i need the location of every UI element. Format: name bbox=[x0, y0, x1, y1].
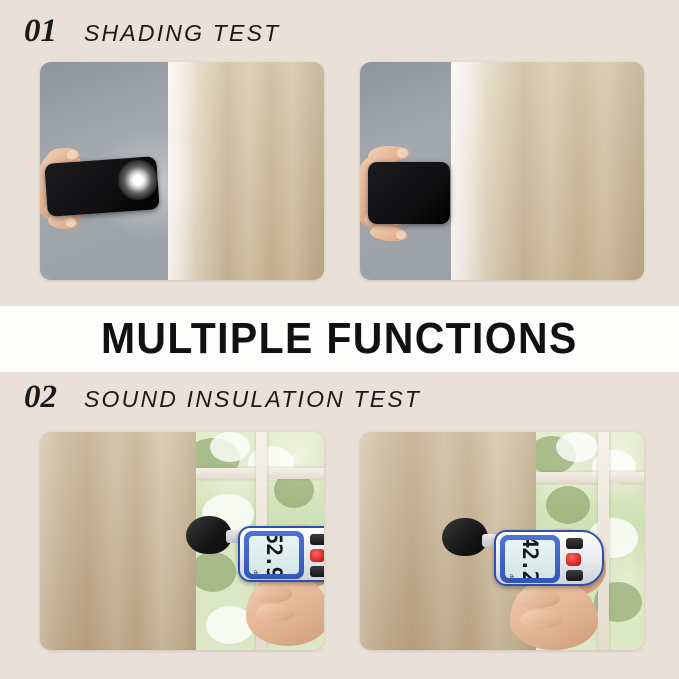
product-infographic: 01 SHADING TEST bbox=[0, 0, 679, 679]
panel-3-scene: 52.9 dB bbox=[40, 432, 324, 650]
smartphone bbox=[368, 162, 450, 224]
decibel-unit: dB bbox=[252, 570, 258, 574]
mode-button[interactable] bbox=[310, 566, 324, 577]
foliage bbox=[556, 432, 598, 462]
fingernail bbox=[395, 230, 406, 240]
lcd-display: 42.2 dB bbox=[505, 540, 555, 578]
power-button[interactable] bbox=[310, 549, 324, 562]
finger-middle bbox=[256, 604, 294, 622]
finger-middle bbox=[520, 610, 562, 629]
foliage bbox=[196, 552, 236, 592]
display-bezel: 42.2 dB bbox=[500, 535, 560, 583]
section-number: 02 bbox=[24, 381, 57, 414]
finger-index bbox=[252, 584, 292, 603]
panel-2-scene bbox=[360, 62, 644, 280]
beige-curtain bbox=[40, 432, 196, 650]
display-bezel: 52.9 dB bbox=[244, 531, 304, 579]
beige-curtain bbox=[451, 62, 644, 280]
foliage bbox=[210, 432, 250, 462]
function-button[interactable] bbox=[310, 534, 324, 545]
flashlight-beam bbox=[118, 160, 158, 200]
fingernail bbox=[397, 148, 409, 159]
section-title: SOUND INSULATION TEST bbox=[84, 388, 421, 411]
window-mullion-horizontal bbox=[536, 472, 644, 483]
panel-1-scene bbox=[40, 62, 324, 280]
section-number: 01 bbox=[24, 15, 57, 48]
section-heading-02: 02 SOUND INSULATION TEST bbox=[24, 381, 421, 414]
photo-panel-sound-at-window: 52.9 dB bbox=[40, 432, 324, 650]
meter-body: 52.9 dB bbox=[238, 526, 324, 582]
fingernail bbox=[66, 149, 78, 160]
power-button[interactable] bbox=[566, 553, 581, 566]
decibel-reading: 42.2 bbox=[518, 540, 542, 578]
function-button[interactable] bbox=[566, 538, 583, 549]
fingernail bbox=[65, 218, 76, 228]
mode-button[interactable] bbox=[566, 570, 583, 581]
finger-index bbox=[516, 588, 560, 608]
banner-title: MULTIPLE FUNCTIONS bbox=[101, 314, 578, 364]
meter-body: 42.2 dB bbox=[494, 530, 604, 586]
lcd-display: 52.9 dB bbox=[249, 536, 299, 574]
section-heading-01: 01 SHADING TEST bbox=[24, 15, 280, 48]
photo-panel-sound-behind-curtain: 42.2 dB bbox=[360, 432, 644, 650]
banner-multiple-functions: MULTIPLE FUNCTIONS bbox=[0, 306, 679, 372]
panel-4-scene: 42.2 dB bbox=[360, 432, 644, 650]
section-title: SHADING TEST bbox=[84, 22, 280, 45]
foliage bbox=[546, 486, 590, 524]
photo-panel-shading-light-on bbox=[40, 62, 324, 280]
decibel-unit: dB bbox=[508, 574, 514, 578]
photo-panel-shading-light-blocked bbox=[360, 62, 644, 280]
decibel-reading: 52.9 bbox=[262, 536, 286, 574]
